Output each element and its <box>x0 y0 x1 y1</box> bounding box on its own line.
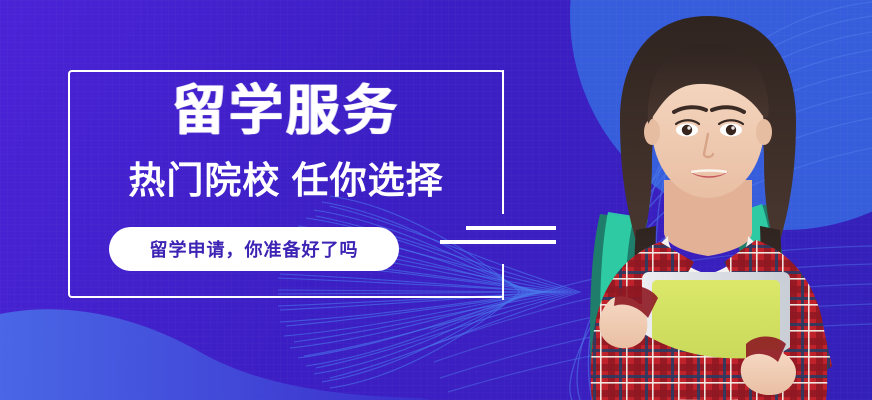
cta-pill[interactable]: 留学申请，你准备好了吗 <box>109 227 399 271</box>
student-photo <box>556 0 872 400</box>
banner-subtitle: 热门院校 任你选择 <box>68 162 504 199</box>
study-abroad-banner: 留学服务 热门院校 任你选择 留学申请，你准备好了吗 <box>0 0 872 400</box>
banner-title: 留学服务 <box>68 84 504 138</box>
cta-pill-label: 留学申请，你准备好了吗 <box>150 236 359 262</box>
copy-block: 留学服务 热门院校 任你选择 留学申请，你准备好了吗 <box>68 70 504 298</box>
bottom-left-wave <box>0 309 430 400</box>
